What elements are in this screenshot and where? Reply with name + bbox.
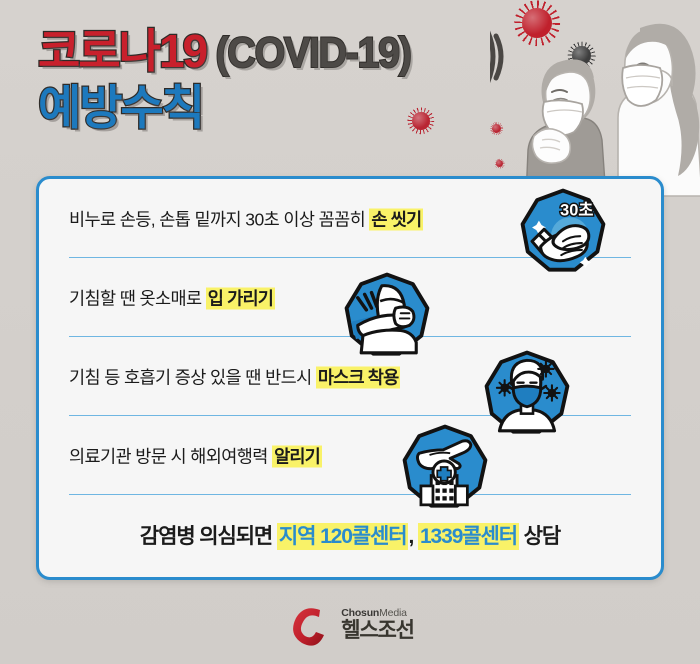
rule-text-plain: 기침할 땐 옷소매로 (69, 288, 206, 308)
hotline-number-local: 지역 120콜센터 (277, 523, 409, 550)
masked-people-illustration (490, 0, 700, 200)
hotline-tail: 상담 (519, 525, 560, 548)
hotline-text: 감염병 의심되면 지역 120콜센터, 1339콜센터 상담 (140, 520, 560, 550)
rule-text-plain: 기침 등 호흡기 증상 있을 땐 반드시 (69, 367, 316, 387)
footer-brand-prefix: Chosun (341, 607, 379, 619)
rule-text: 기침 등 호흡기 증상 있을 땐 반드시 마스크 착용 (69, 364, 400, 389)
rule-text: 기침할 땐 옷소매로 입 가리기 (69, 285, 275, 310)
footer-brand-suffix: Media (379, 607, 407, 619)
handwash-icon: 30초 (520, 188, 606, 274)
covid-prevention-infographic: 코로나19 (COVID-19) 예방수칙 (0, 0, 700, 664)
title-line-1: 코로나19 (COVID-19) (38, 28, 538, 80)
rule-text: 비누로 손등, 손톱 밑까지 30초 이상 꼼꼼히 손 씻기 (69, 206, 423, 231)
face-mask-icon (484, 350, 570, 436)
hotline-callout: 감염병 의심되면 지역 120콜센터, 1339콜센터 상담 (39, 495, 661, 575)
subtitle-korean: 예방수칙 (38, 81, 203, 134)
footer: ChosunMedia 헬스조선 (0, 602, 700, 648)
footer-text-block: ChosunMedia 헬스조선 (341, 608, 413, 642)
handwash-duration-label: 30초 (560, 202, 593, 220)
rule-text-highlight: 마스크 착용 (316, 366, 401, 388)
rule-text: 의료기관 방문 시 해외여행력 알리기 (69, 443, 322, 468)
hospital-travel-icon (402, 424, 488, 510)
title-block: 코로나19 (COVID-19) 예방수칙 (38, 28, 538, 140)
title-english: (COVID-19) (216, 32, 411, 75)
hotline-number-1339: 1339콜센터 (418, 523, 519, 550)
chosun-c-logo-icon (286, 602, 332, 648)
footer-brand-korean: 헬스조선 (341, 620, 413, 642)
footer-brand: ChosunMedia (341, 608, 413, 619)
rule-text-highlight: 손 씻기 (369, 208, 423, 230)
rule-text-plain: 의료기관 방문 시 해외여행력 (69, 446, 272, 466)
hotline-lead: 감염병 의심되면 (140, 525, 277, 548)
hotline-separator: , (408, 525, 417, 548)
rule-text-highlight: 입 가리기 (206, 287, 275, 309)
header: 코로나19 (COVID-19) 예방수칙 (0, 0, 700, 178)
virus-particle-icon (412, 112, 430, 130)
title-korean: 코로나19 (38, 28, 206, 74)
cough-sleeve-icon (344, 272, 430, 358)
rule-text-plain: 비누로 손등, 손톱 밑까지 30초 이상 꼼꼼히 (69, 209, 369, 229)
rule-text-highlight: 알리기 (272, 445, 322, 467)
title-line-2: 예방수칙 (38, 84, 538, 140)
